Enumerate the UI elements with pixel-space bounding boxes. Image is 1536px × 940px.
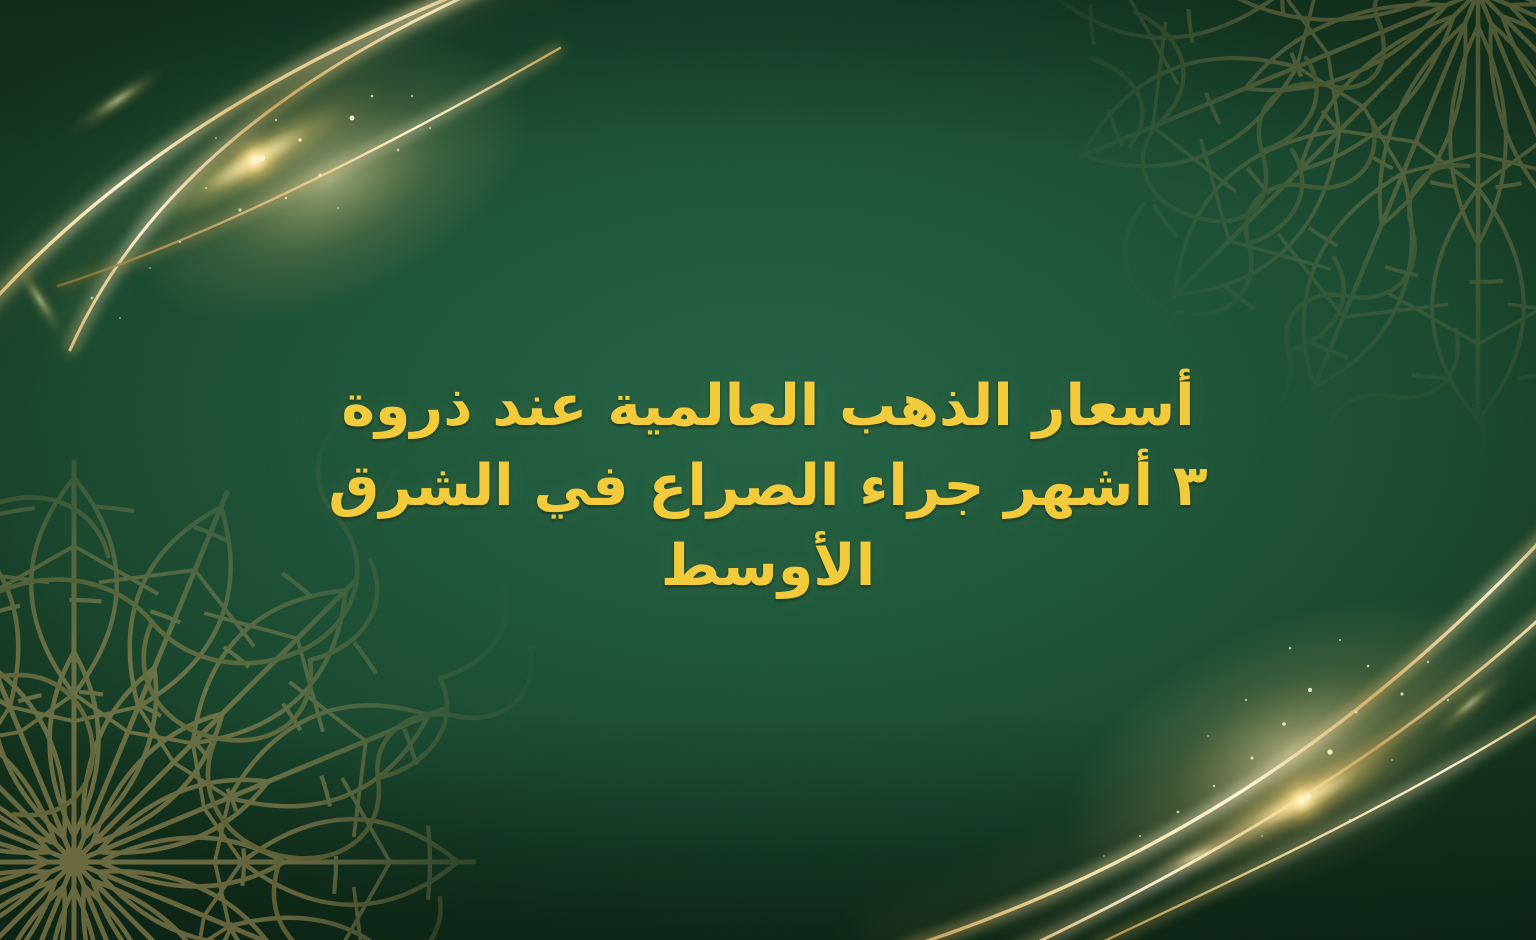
headline-line-2: ٣ أشهر جراء الصراع في الشرق [150, 446, 1386, 526]
headline-line-1: أسعار الذهب العالمية عند ذروة [150, 366, 1386, 446]
headline-block: أسعار الذهب العالمية عند ذروة ٣ أشهر جرا… [0, 366, 1536, 606]
banner-canvas: أسعار الذهب العالمية عند ذروة ٣ أشهر جرا… [0, 0, 1536, 940]
headline-line-3: الأوسط [150, 526, 1386, 606]
